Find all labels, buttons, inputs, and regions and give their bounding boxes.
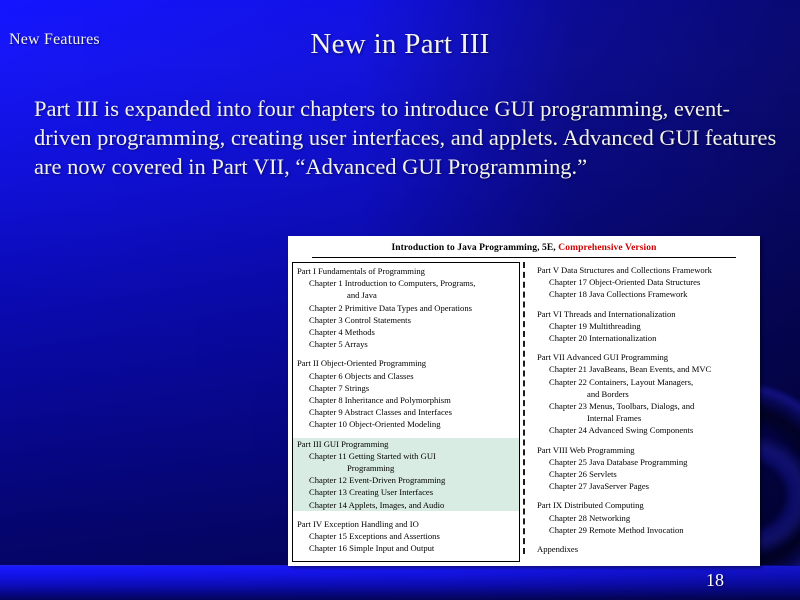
- toc-right-column: Part V Data Structures and Collections F…: [533, 262, 755, 562]
- bottom-band: [0, 566, 800, 600]
- slide-body-text: Part III is expanded into four chapters …: [34, 94, 786, 181]
- toc-part-group: Part IV Exception Handling and IOChapter…: [293, 518, 519, 555]
- toc-part-title: Part IV Exception Handling and IO: [295, 518, 517, 530]
- toc-chapter-entry: Chapter 29 Remote Method Invocation: [535, 524, 753, 536]
- slide-kicker-label: New Features: [9, 31, 100, 49]
- toc-group-gap: [533, 344, 755, 351]
- toc-chapter-entry: Chapter 19 Multithreading: [535, 320, 753, 332]
- toc-chapter-entry: Chapter 15 Exceptions and Assertions: [295, 530, 517, 542]
- toc-chapter-entry: Chapter 9 Abstract Classes and Interface…: [295, 406, 517, 418]
- toc-chapter-entry: Chapter 17 Object-Oriented Data Structur…: [535, 276, 753, 288]
- toc-header: Introduction to Java Programming, 5E, Co…: [288, 236, 760, 253]
- toc-chapter-entry: Chapter 3 Control Statements: [295, 314, 517, 326]
- page-title: New in Part III: [150, 28, 650, 61]
- toc-header-rule: [312, 257, 736, 258]
- toc-part-title: Part VII Advanced GUI Programming: [535, 351, 753, 363]
- toc-part-title: Part III GUI Programming: [295, 438, 517, 450]
- toc-chapter-entry: Internal Frames: [535, 412, 753, 424]
- toc-group-gap: [533, 301, 755, 308]
- toc-part-title: Part IX Distributed Computing: [535, 499, 753, 511]
- toc-chapter-entry: Chapter 6 Objects and Classes: [295, 370, 517, 382]
- toc-chapter-entry: Chapter 24 Advanced Swing Components: [535, 424, 753, 436]
- toc-group-gap: [533, 437, 755, 444]
- toc-chapter-entry: Chapter 16 Simple Input and Output: [295, 542, 517, 554]
- toc-left-column: Part I Fundamentals of ProgrammingChapte…: [292, 262, 520, 562]
- toc-part-title: Part VI Threads and Internationalization: [535, 308, 753, 320]
- toc-chapter-entry: Chapter 11 Getting Started with GUI: [295, 450, 517, 462]
- toc-chapter-entry: Chapter 12 Event-Driven Programming: [295, 474, 517, 486]
- toc-part-group: Part IX Distributed ComputingChapter 28 …: [533, 499, 755, 536]
- toc-chapter-entry: Chapter 2 Primitive Data Types and Opera…: [295, 302, 517, 314]
- toc-header-edition-label: Comprehensive Version: [558, 243, 656, 253]
- toc-chapter-entry: Chapter 4 Methods: [295, 326, 517, 338]
- table-of-contents-panel: Introduction to Java Programming, 5E, Co…: [288, 236, 760, 566]
- toc-chapter-entry: Chapter 13 Creating User Interfaces: [295, 486, 517, 498]
- toc-group-gap: [533, 536, 755, 543]
- toc-chapter-entry: Chapter 5 Arrays: [295, 338, 517, 350]
- toc-part-title: Part V Data Structures and Collections F…: [535, 264, 753, 276]
- toc-group-gap: [293, 511, 519, 518]
- toc-group-gap: [293, 350, 519, 357]
- toc-chapter-entry: Chapter 10 Object-Oriented Modeling: [295, 418, 517, 430]
- toc-columns: Part I Fundamentals of ProgrammingChapte…: [288, 262, 760, 562]
- toc-part-group: Part I Fundamentals of ProgrammingChapte…: [293, 263, 519, 350]
- toc-group-gap: [293, 431, 519, 438]
- toc-part-title: Appendixes: [535, 543, 753, 555]
- toc-chapter-entry: Chapter 21 JavaBeans, Bean Events, and M…: [535, 363, 753, 375]
- slide-canvas: New Features New in Part III Part III is…: [0, 0, 800, 600]
- toc-chapter-entry: and Borders: [535, 388, 753, 400]
- toc-chapter-entry: Chapter 23 Menus, Toolbars, Dialogs, and: [535, 400, 753, 412]
- toc-part-group: Part VI Threads and Internationalization…: [533, 308, 755, 345]
- toc-part-title: Part VIII Web Programming: [535, 444, 753, 456]
- toc-part-group: Part VIII Web ProgrammingChapter 25 Java…: [533, 444, 755, 493]
- toc-header-title: Introduction to Java Programming, 5E,: [391, 243, 555, 253]
- toc-chapter-entry: Chapter 14 Applets, Images, and Audio: [295, 499, 517, 511]
- toc-part-group: Part II Object-Oriented ProgrammingChapt…: [293, 357, 519, 430]
- toc-chapter-entry: Programming: [295, 462, 517, 474]
- toc-chapter-entry: Chapter 26 Servlets: [535, 468, 753, 480]
- toc-column-divider: [523, 262, 525, 554]
- toc-chapter-entry: Chapter 25 Java Database Programming: [535, 456, 753, 468]
- toc-part-group: Part V Data Structures and Collections F…: [533, 262, 755, 301]
- toc-chapter-entry: Chapter 18 Java Collections Framework: [535, 288, 753, 300]
- toc-part-group: Part VII Advanced GUI ProgrammingChapter…: [533, 351, 755, 436]
- toc-part-group: Part III GUI ProgrammingChapter 11 Getti…: [293, 438, 519, 511]
- toc-part-title: Part I Fundamentals of Programming: [295, 265, 517, 277]
- toc-part-title: Part II Object-Oriented Programming: [295, 357, 517, 369]
- toc-chapter-entry: Chapter 22 Containers, Layout Managers,: [535, 376, 753, 388]
- slide-page-number: 18: [706, 570, 724, 591]
- toc-chapter-entry: and Java: [295, 289, 517, 301]
- toc-chapter-entry: Chapter 7 Strings: [295, 382, 517, 394]
- toc-chapter-entry: Chapter 20 Internationalization: [535, 332, 753, 344]
- toc-group-gap: [533, 492, 755, 499]
- toc-part-group: Appendixes: [533, 543, 755, 555]
- toc-chapter-entry: Chapter 27 JavaServer Pages: [535, 480, 753, 492]
- toc-chapter-entry: Chapter 1 Introduction to Computers, Pro…: [295, 277, 517, 289]
- toc-chapter-entry: Chapter 28 Networking: [535, 512, 753, 524]
- toc-chapter-entry: Chapter 8 Inheritance and Polymorphism: [295, 394, 517, 406]
